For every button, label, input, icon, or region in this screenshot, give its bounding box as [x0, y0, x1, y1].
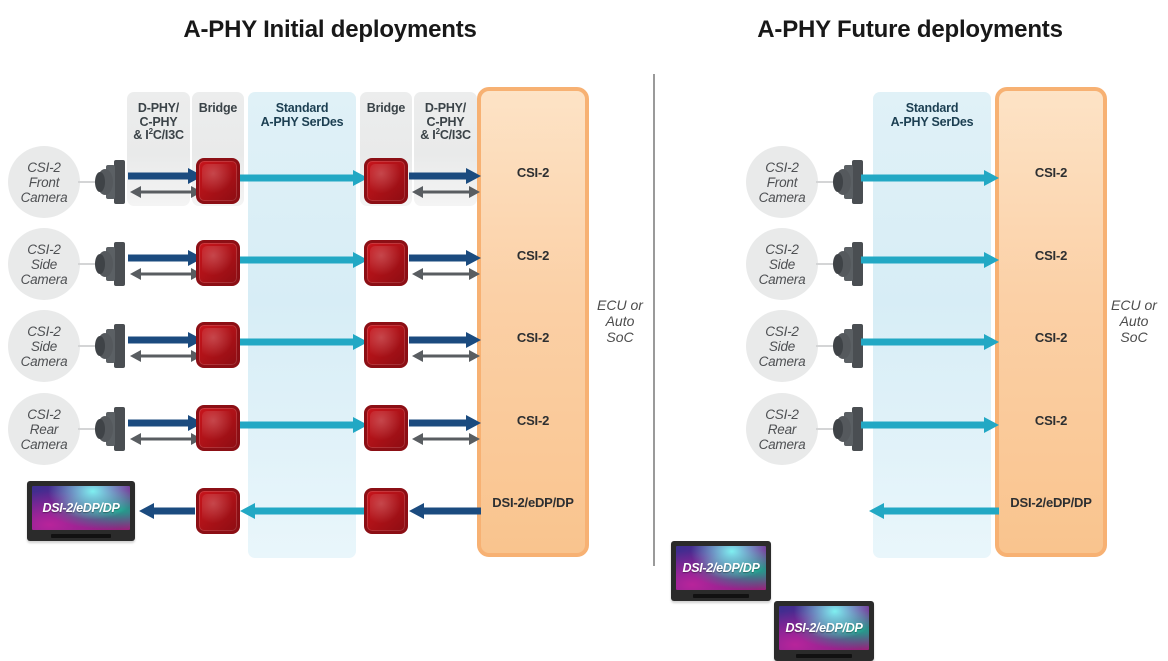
ecu-row-label: DSI-2/eDP/DP — [481, 495, 585, 510]
ecu-caption-future: ECU or Auto SoC — [1100, 297, 1168, 345]
arrow-dphy-to-bridge-left-row4 — [128, 415, 203, 431]
arrow-serdes-left-row4 — [240, 417, 368, 433]
bridge-box-left-row5 — [196, 488, 240, 534]
arrow-camera-to-ecu-row1 — [861, 170, 999, 186]
display-label: DSI-2/eDP/DP — [43, 501, 120, 515]
camera-node-rear-left: CSI-2 Rear Camera — [8, 393, 80, 465]
arrow-i2c-bidir-left-row2 — [130, 268, 202, 280]
bridge-box-left-row3 — [196, 322, 240, 368]
camera-node-side1-left: CSI-2 Side Camera — [8, 228, 80, 300]
camera-label: CSI-2 Side Camera — [759, 242, 806, 287]
bridge-box-right-row2 — [364, 240, 408, 286]
arrow-serdes-left-row1 — [240, 170, 368, 186]
camera-lens-icon — [830, 242, 864, 291]
camera-node-side2-left: CSI-2 Side Camera — [8, 310, 80, 382]
camera-node-front-right: CSI-2 Front Camera — [746, 146, 818, 218]
bridge-box-right-row3 — [364, 322, 408, 368]
arrow-serdes-left-row5 — [240, 503, 368, 519]
display-screen: DSI-2/eDP/DP — [676, 546, 766, 590]
arrow-i2c-bidir-left-row4 — [130, 433, 202, 445]
arrow-serdes-left-row3 — [240, 334, 368, 350]
column-label-bridge-left: Bridge — [192, 102, 244, 116]
camera-lens-icon — [92, 242, 126, 291]
arrow-camera-to-ecu-row3 — [861, 334, 999, 350]
ecu-caption-initial: ECU or Auto SoC — [580, 297, 660, 345]
ecu-row-label: CSI-2 — [481, 330, 585, 345]
camera-lens-icon — [92, 324, 126, 373]
camera-node-side1-right: CSI-2 Side Camera — [746, 228, 818, 300]
camera-lens-icon — [92, 407, 126, 456]
arrow-i2c-bidir-right-row1 — [412, 186, 480, 198]
panel-title-initial: A-PHY Initial deployments — [40, 16, 620, 44]
column-label-bridge-right: Bridge — [360, 102, 412, 116]
arrow-dphy-to-bridge-left-row2 — [128, 250, 203, 266]
arrow-bridge-to-ecu-row3 — [409, 332, 481, 348]
column-label-dphy-left: D-PHY/ C-PHY & I2C/I3C — [127, 102, 190, 143]
column-band-serdes-right: Standard A-PHY SerDes — [873, 92, 991, 558]
ecu-row-label: CSI-2 — [999, 248, 1103, 263]
camera-label: CSI-2 Rear Camera — [759, 407, 806, 452]
arrow-i2c-bidir-right-row3 — [412, 350, 480, 362]
arrow-i2c-bidir-right-row4 — [412, 433, 480, 445]
bridge-box-right-row5 — [364, 488, 408, 534]
ecu-row-label: DSI-2/eDP/DP — [999, 495, 1103, 510]
display-stand — [51, 534, 112, 538]
camera-lens-icon — [830, 407, 864, 456]
column-band-serdes-left: Standard A-PHY SerDes — [248, 92, 356, 558]
ecu-row-label: CSI-2 — [481, 248, 585, 263]
arrow-dphy-to-bridge-left-row1 — [128, 168, 203, 184]
camera-node-rear-right: CSI-2 Rear Camera — [746, 393, 818, 465]
camera-lens-icon — [92, 160, 126, 209]
arrow-i2c-bidir-left-row1 — [130, 186, 202, 198]
display-monitor-right-1: DSI-2/eDP/DP — [671, 541, 771, 601]
arrow-ecu-to-display-row5 — [869, 503, 999, 519]
display-label: DSI-2/eDP/DP — [683, 561, 760, 575]
camera-lens-icon — [830, 324, 864, 373]
camera-label: CSI-2 Side Camera — [759, 324, 806, 369]
display-stand — [693, 594, 749, 598]
bridge-box-left-row4 — [196, 405, 240, 451]
camera-label: CSI-2 Side Camera — [21, 324, 68, 369]
camera-node-front-left: CSI-2 Front Camera — [8, 146, 80, 218]
bridge-box-right-row4 — [364, 405, 408, 451]
panel-title-future: A-PHY Future deployments — [660, 16, 1160, 44]
bridge-box-left-row2 — [196, 240, 240, 286]
arrow-i2c-bidir-left-row3 — [130, 350, 202, 362]
ecu-row-label: CSI-2 — [999, 413, 1103, 428]
arrow-camera-to-ecu-row4 — [861, 417, 999, 433]
camera-node-side2-right: CSI-2 Side Camera — [746, 310, 818, 382]
display-screen: DSI-2/eDP/DP — [32, 486, 130, 530]
camera-lens-icon — [830, 160, 864, 209]
camera-label: CSI-2 Side Camera — [21, 242, 68, 287]
column-label-serdes-right: Standard A-PHY SerDes — [873, 102, 991, 129]
arrow-bridge-to-display-row5 — [139, 503, 195, 519]
camera-label: CSI-2 Rear Camera — [21, 407, 68, 452]
camera-label: CSI-2 Front Camera — [21, 160, 68, 205]
display-monitor-right-2: DSI-2/eDP/DP — [774, 601, 874, 661]
display-monitor-left-1: DSI-2/eDP/DP — [27, 481, 135, 541]
display-screen: DSI-2/eDP/DP — [779, 606, 869, 650]
arrow-dphy-to-bridge-left-row3 — [128, 332, 203, 348]
ecu-row-label: CSI-2 — [481, 413, 585, 428]
diagram-canvas: A-PHY Initial deployments A-PHY Future d… — [0, 0, 1168, 575]
arrow-serdes-left-row2 — [240, 252, 368, 268]
arrow-i2c-bidir-right-row2 — [412, 268, 480, 280]
i2c-i3c-text: & I2C/I3C — [133, 128, 184, 142]
camera-label: CSI-2 Front Camera — [759, 160, 806, 205]
arrow-bridge-to-ecu-row1 — [409, 168, 481, 184]
column-label-dphy-right: D-PHY/ C-PHY & I2C/I3C — [414, 102, 477, 143]
i2c-i3c-text: & I2C/I3C — [420, 128, 471, 142]
arrow-bridge-to-ecu-row4 — [409, 415, 481, 431]
arrow-bridge-to-ecu-row2 — [409, 250, 481, 266]
ecu-panel-future: CSI-2 CSI-2 CSI-2 CSI-2 DSI-2/eDP/DP — [995, 87, 1107, 557]
display-stand — [796, 654, 852, 658]
column-label-serdes-left: Standard A-PHY SerDes — [248, 102, 356, 129]
arrow-ecu-to-bridge-row5 — [409, 503, 481, 519]
ecu-row-label: CSI-2 — [999, 330, 1103, 345]
ecu-row-label: CSI-2 — [481, 165, 585, 180]
bridge-box-right-row1 — [364, 158, 408, 204]
bridge-box-left-row1 — [196, 158, 240, 204]
display-label: DSI-2/eDP/DP — [786, 621, 863, 635]
arrow-camera-to-ecu-row2 — [861, 252, 999, 268]
ecu-panel-initial: CSI-2 CSI-2 CSI-2 CSI-2 DSI-2/eDP/DP — [477, 87, 589, 557]
ecu-row-label: CSI-2 — [999, 165, 1103, 180]
